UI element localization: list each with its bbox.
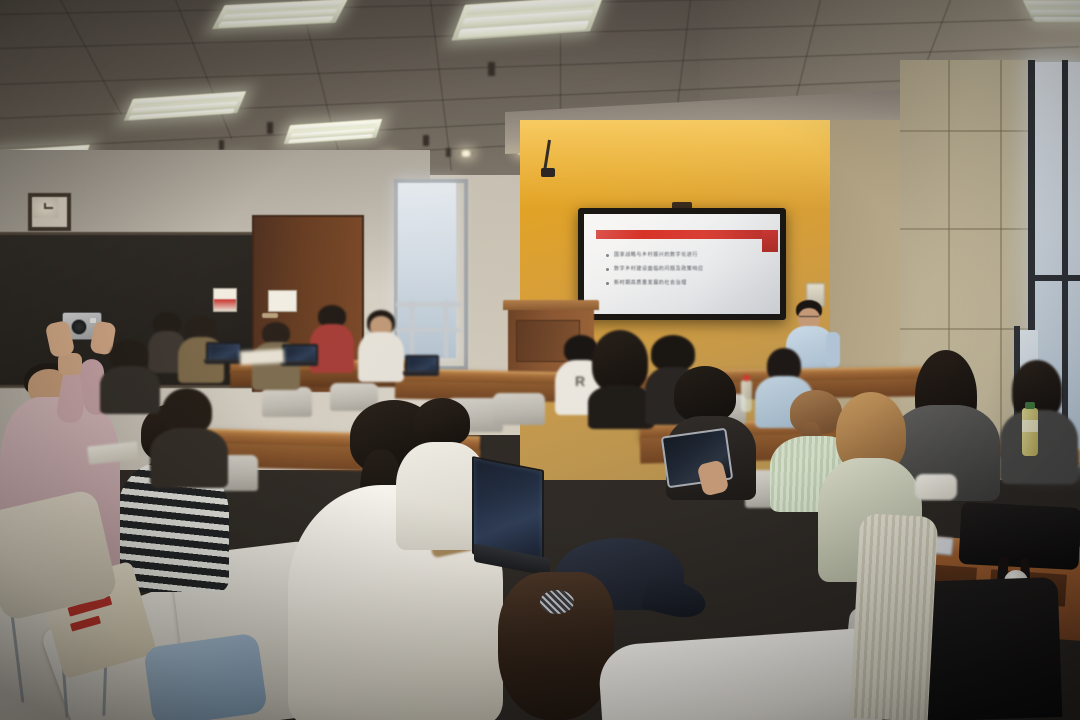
stair-rail	[396, 302, 462, 307]
paper-stack	[240, 349, 285, 365]
ceiling-sensor	[219, 140, 224, 150]
bottle-cap	[1025, 402, 1035, 409]
projector-head	[541, 168, 555, 177]
shoulder-bag	[958, 502, 1080, 570]
attendee	[150, 388, 228, 484]
shirt-letter: R	[575, 373, 587, 389]
ceiling-sensor	[423, 135, 429, 146]
window-mullion	[1028, 275, 1080, 281]
presenter-arm	[826, 332, 840, 368]
laptop[interactable]	[282, 344, 316, 366]
ceiling-sensor	[488, 62, 495, 76]
stair-rail-post	[444, 300, 448, 358]
stair-rail-post	[410, 300, 414, 358]
tissue	[915, 474, 957, 500]
laptop[interactable]	[206, 342, 240, 364]
cap-brim	[641, 575, 709, 623]
tea-bottle	[1022, 408, 1038, 456]
attendee	[1000, 360, 1078, 480]
ceiling-sensor	[446, 148, 451, 157]
hair-scrunchie	[540, 590, 574, 614]
laptop-keyboard[interactable]	[204, 359, 242, 364]
bottle-cap	[743, 375, 750, 381]
lectern-top	[503, 300, 599, 310]
door-handle[interactable]	[262, 313, 278, 318]
camera-lens-icon	[71, 319, 87, 335]
attendee-knit-top	[850, 513, 939, 720]
ceiling-sensor	[267, 122, 273, 134]
laptop-keyboard[interactable]	[280, 361, 318, 366]
stair-rail	[396, 328, 462, 332]
attendee	[358, 310, 404, 380]
paper-notice	[268, 290, 297, 312]
screen-glare	[584, 214, 780, 314]
clock-minute-hand	[45, 207, 53, 209]
camera-flash-icon	[90, 318, 96, 323]
bottle-label	[1022, 420, 1038, 432]
laptop[interactable]	[405, 355, 437, 376]
downlight	[459, 150, 473, 157]
laptop-keyboard[interactable]	[403, 371, 439, 376]
hand	[58, 353, 82, 375]
wall-sign	[213, 288, 237, 312]
lecture-hall-photo: 国家战略与乡村振兴的数字化进行 数字乡村建设面临的问题及政策响应 新时期高质量发…	[0, 0, 1080, 720]
wall-clock-face	[33, 198, 58, 218]
presenter-glasses-icon	[799, 316, 819, 320]
tote-bag-print	[70, 616, 101, 632]
water-bottle	[741, 380, 752, 412]
denim-jacket	[143, 632, 268, 720]
ceiling-light-panel	[1023, 0, 1080, 22]
